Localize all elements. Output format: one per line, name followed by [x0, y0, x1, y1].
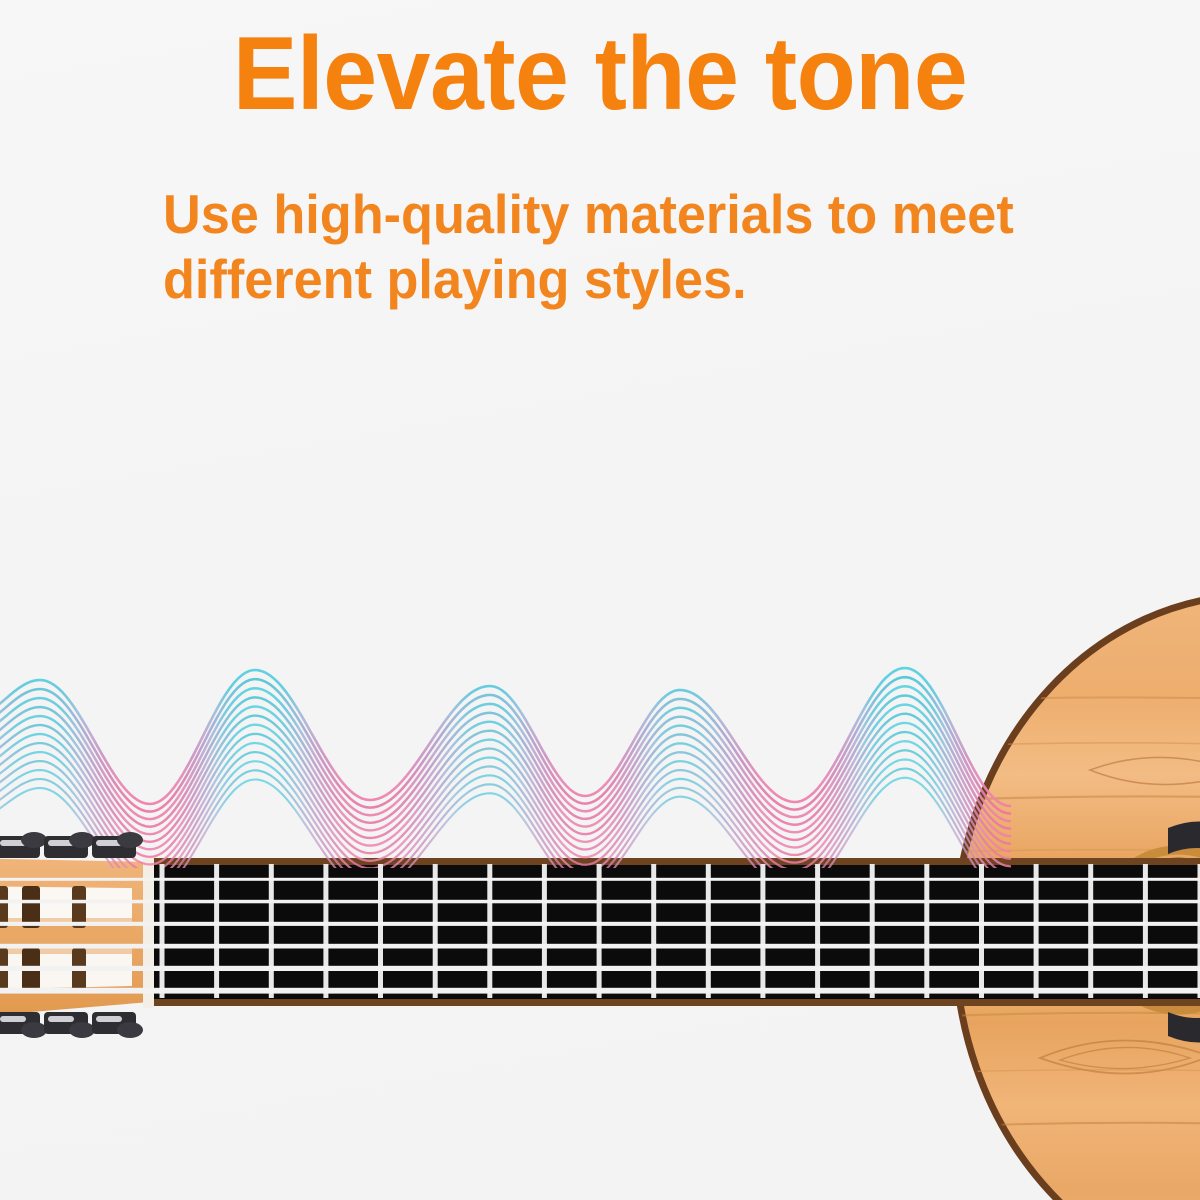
tuning-pegs [0, 832, 143, 1038]
fret-wire [815, 864, 820, 998]
tuning-peg-button [69, 832, 95, 848]
fret-wire [979, 864, 984, 998]
heading-block: Elevate the tone Use high-quality materi… [0, 0, 1200, 312]
fret-wire [487, 864, 492, 998]
page-subtitle-line-2: different playing styles. [30, 247, 1170, 312]
fret-wire [214, 864, 219, 998]
fret-wire [542, 864, 547, 998]
page-title: Elevate the tone [42, 0, 1158, 126]
fret-wire [1088, 864, 1093, 998]
fret-wire [597, 864, 602, 998]
fret-wire [1034, 864, 1039, 998]
guitar-string [0, 988, 1200, 994]
fret-wire [706, 864, 711, 998]
fret-wire [760, 864, 765, 998]
fret-wire [378, 864, 383, 998]
guitar-frets [160, 864, 1200, 998]
guitar-string [0, 878, 1200, 881]
guitar-string [0, 944, 1200, 949]
tuning-peg-button [117, 1022, 143, 1038]
guitar-string [0, 900, 1200, 904]
guitar-bridge [1168, 821, 1200, 1042]
fret-wire [1143, 864, 1148, 998]
fret-wire [433, 864, 438, 998]
tuning-peg-button [21, 1022, 47, 1038]
tuning-peg-highlight [96, 1016, 122, 1022]
fret-wire [323, 864, 328, 998]
tuning-peg-button [21, 832, 47, 848]
tuning-peg-highlight [48, 1016, 74, 1022]
tuning-peg-button [117, 832, 143, 848]
page-subtitle-line-1: Use high-quality materials to meet [30, 182, 1170, 247]
page-subtitle: Use high-quality materials to meet diffe… [30, 126, 1170, 312]
promo-banner: Elevate the tone Use high-quality materi… [0, 0, 1200, 1200]
fret-wire [651, 864, 656, 998]
guitar-string [0, 966, 1200, 971]
tuning-peg-highlight [0, 1016, 26, 1022]
fret-wire [269, 864, 274, 998]
fret-wire [870, 864, 875, 998]
fret-wire [924, 864, 929, 998]
tuning-peg-button [69, 1022, 95, 1038]
fret-wire [160, 864, 165, 998]
guitar-string [0, 922, 1200, 926]
